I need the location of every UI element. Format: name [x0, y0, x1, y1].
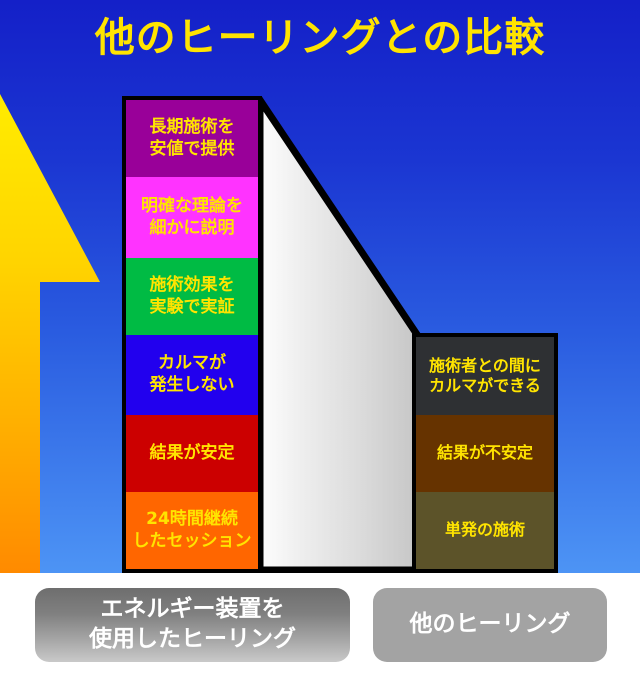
cell-text-line: 発生しない [150, 375, 235, 397]
cell-no-karma: カルマが発生しない [126, 335, 258, 415]
legend-text-line: エネルギー装置を [101, 595, 285, 625]
cell-karma-with-practitioner: 施術者との間にカルマができる [416, 337, 554, 415]
cell-text-line: 結果が不安定 [437, 443, 533, 463]
cell-text-line: 実験で実証 [150, 297, 235, 319]
chart-panel: 長期施術を安値で提供明確な理論を細かに説明施術効果を実験で実証カルマが発生しない… [0, 0, 640, 573]
cell-text-line: 単発の施術 [445, 520, 525, 540]
cell-text-line: 施術効果を [150, 275, 235, 297]
legend-text-line: 他のヒーリング [410, 610, 571, 640]
cell-text-line: 安値で提供 [150, 139, 235, 161]
left-column-energy-device: 長期施術を安値で提供明確な理論を細かに説明施術効果を実験で実証カルマが発生しない… [122, 96, 262, 573]
cell-text-line: したセッション [133, 531, 252, 553]
comparison-infographic: 長期施術を安値で提供明確な理論を細かに説明施術効果を実験で実証カルマが発生しない… [0, 0, 640, 700]
cell-proven-by-experiment: 施術効果を実験で実証 [126, 258, 258, 335]
cell-text-line: 施術者との間に [429, 356, 541, 376]
cell-text-line: 結果が安定 [150, 443, 235, 465]
cell-long-term-low-cost: 長期施術を安値で提供 [126, 100, 258, 177]
cell-text-line: カルマが [158, 353, 226, 375]
slope-ramp-shape [252, 96, 424, 573]
cell-text-line: 明確な理論を [141, 196, 243, 218]
right-column-other-healing: 施術者との間にカルマができる結果が不安定単発の施術 [412, 333, 558, 573]
cell-text-line: 細かに説明 [150, 218, 235, 240]
legend-energy-device[interactable]: エネルギー装置を使用したヒーリング [35, 588, 350, 662]
legend-text-line: 使用したヒーリング [89, 625, 296, 655]
cell-clear-theory: 明確な理論を細かに説明 [126, 177, 258, 258]
cell-text-line: 長期施術を [150, 117, 235, 139]
upward-arrow-icon [0, 92, 100, 573]
cell-unstable-result: 結果が不安定 [416, 415, 554, 492]
cell-stable-result: 結果が安定 [126, 415, 258, 492]
cell-text-line: 24時間継続 [146, 509, 238, 531]
cell-text-line: カルマができる [429, 376, 541, 396]
cell-24h-session: 24時間継続したセッション [126, 492, 258, 569]
cell-one-off-session: 単発の施術 [416, 492, 554, 569]
page-title: 他のヒーリングとの比較 [0, 16, 640, 60]
legend-other-healing[interactable]: 他のヒーリング [373, 588, 607, 662]
